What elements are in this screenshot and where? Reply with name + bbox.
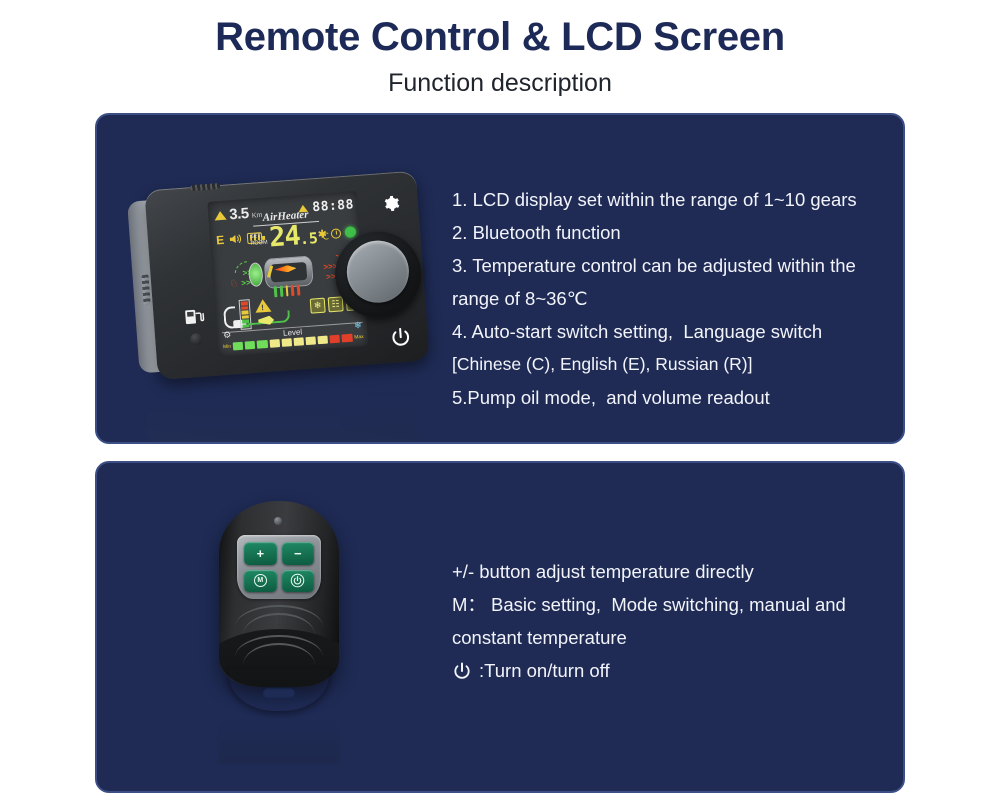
set-room-labels: SET ROOM bbox=[250, 233, 268, 248]
level-label: Level bbox=[278, 327, 308, 338]
mode-m-icon: M bbox=[254, 574, 267, 587]
triangle-up-icon bbox=[214, 211, 227, 221]
remote-plus-button[interactable]: + bbox=[244, 542, 277, 565]
clock-readout: 88:88 bbox=[297, 197, 355, 216]
remote-chrome-base bbox=[229, 669, 329, 711]
power-icon bbox=[290, 573, 305, 588]
infographic-page: Remote Control & LCD Screen Function des… bbox=[0, 0, 1000, 800]
triangle-up-small-icon bbox=[298, 205, 308, 213]
feature-item: 5.Pump oil mode, and volume readout bbox=[452, 381, 892, 414]
language-code: E bbox=[216, 233, 225, 248]
page-subtitle: Function description bbox=[0, 69, 1000, 98]
feature-item: +/- button adjust temperature directly bbox=[452, 555, 892, 588]
hinge-detail bbox=[190, 183, 220, 191]
page-title: Remote Control & LCD Screen bbox=[0, 14, 1000, 60]
remote-control-device: + − M bbox=[213, 501, 345, 709]
light-sensor bbox=[190, 333, 203, 346]
power-feature-item: :Turn on/turn off bbox=[452, 654, 892, 687]
remote-device-reflection bbox=[213, 709, 345, 764]
lcd-feature-list: 1. LCD display set within the range of 1… bbox=[452, 183, 892, 414]
remote-feature-list: +/- button adjust temperature directly M… bbox=[452, 555, 892, 687]
remote-wave-detail bbox=[235, 605, 323, 663]
gear-icon[interactable] bbox=[381, 194, 400, 213]
keyring-slot bbox=[262, 687, 296, 698]
feature-item: 3. Temperature control can be adjusted w… bbox=[452, 249, 892, 315]
feature-item: 2. Bluetooth function bbox=[452, 216, 892, 249]
plus-icon: + bbox=[256, 546, 264, 561]
speaker-icon bbox=[229, 233, 243, 246]
temperature-decimal: .5 bbox=[299, 229, 318, 248]
remote-power-button[interactable] bbox=[282, 570, 315, 593]
power-icon[interactable] bbox=[389, 325, 413, 349]
header: Remote Control & LCD Screen Function des… bbox=[0, 0, 1000, 98]
mode-box-snowflake: ❄ bbox=[310, 298, 326, 314]
lcd-device-reflection bbox=[133, 377, 423, 444]
temperature-value: 24 bbox=[268, 223, 300, 250]
feature-item: 4. Auto-start switch setting, Language s… bbox=[452, 315, 892, 348]
minus-icon: − bbox=[294, 546, 302, 561]
fuel-pump-icon bbox=[183, 304, 207, 328]
feature-item: [Chinese (C), English (E), Russian (R)] bbox=[452, 348, 892, 381]
heater-diagram: ♘ >>> >>> bbox=[241, 251, 339, 300]
mode-box-grid-1: ☷ bbox=[328, 296, 344, 312]
device-body: 3.5 Km AirHeater 88:88 E bbox=[144, 171, 429, 380]
knob-surface[interactable] bbox=[345, 238, 411, 304]
remote-minus-button[interactable]: − bbox=[282, 542, 315, 565]
remote-feature-panel: + − M bbox=[95, 461, 905, 793]
person-icon: ⚙ bbox=[223, 330, 232, 342]
lcd-feature-panel: 3.5 Km AirHeater 88:88 E bbox=[95, 113, 905, 444]
room-label: ROOM bbox=[250, 240, 268, 248]
warning-icon bbox=[255, 299, 272, 313]
remote-mode-button[interactable]: M bbox=[244, 570, 277, 593]
wrench-icon: ✱ bbox=[317, 227, 327, 241]
remote-keypad: + − M bbox=[237, 535, 321, 599]
feature-item: M： Basic setting, Mode switching, manual… bbox=[452, 588, 892, 654]
snowflake-icon: ❄ bbox=[354, 320, 362, 332]
vent-grille bbox=[141, 274, 150, 304]
led-indicator-icon bbox=[274, 517, 282, 525]
mode-indicator-row: ✱ bbox=[317, 225, 356, 241]
heater-chamber bbox=[270, 262, 307, 283]
power-feature-text: :Turn on/turn off bbox=[479, 654, 610, 687]
green-status-icon bbox=[345, 226, 357, 238]
feature-item: 1. LCD display set within the range of 1… bbox=[452, 183, 892, 216]
level-indicator: Level ⚙ ❄ Min Max bbox=[222, 320, 364, 351]
altitude-value: 3.5 bbox=[229, 205, 250, 223]
clock-icon bbox=[331, 228, 342, 239]
power-icon bbox=[452, 661, 472, 681]
lcd-controller-device: 3.5 Km AirHeater 88:88 E bbox=[126, 167, 430, 388]
clock-value: 88:88 bbox=[312, 197, 355, 215]
